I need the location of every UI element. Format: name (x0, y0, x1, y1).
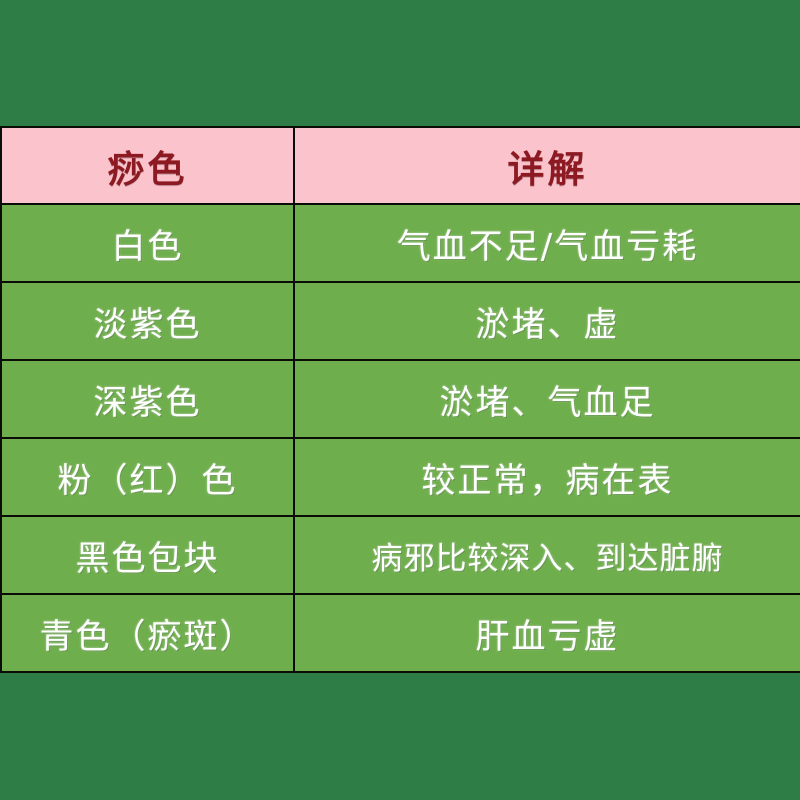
table-row: 白色 气血不足/气血亏耗 (1, 204, 800, 282)
cell-sha-color: 白色 (1, 204, 294, 282)
table-row: 粉（红）色 较正常，病在表 (1, 438, 800, 516)
table-body: 白色 气血不足/气血亏耗 淡紫色 淤堵、虚 深紫色 淤堵、气血足 粉（红）色 较… (1, 204, 800, 672)
cell-detail: 较正常，病在表 (294, 438, 800, 516)
cell-sha-color: 粉（红）色 (1, 438, 294, 516)
cell-sha-color: 黑色包块 (1, 516, 294, 594)
column-header-sha-color: 痧色 (1, 127, 294, 204)
cell-detail: 淤堵、气血足 (294, 360, 800, 438)
table-row: 淡紫色 淤堵、虚 (1, 282, 800, 360)
table-header-row: 痧色 详解 (1, 127, 800, 204)
column-header-detail: 详解 (294, 127, 800, 204)
cell-detail: 病邪比较深入、到达脏腑 (294, 516, 800, 594)
table-row: 深紫色 淤堵、气血足 (1, 360, 800, 438)
cell-detail: 肝血亏虚 (294, 594, 800, 672)
table-header: 痧色 详解 (1, 127, 800, 204)
table-row: 黑色包块 病邪比较深入、到达脏腑 (1, 516, 800, 594)
table-row: 青色（瘀斑） 肝血亏虚 (1, 594, 800, 672)
cell-detail: 淤堵、虚 (294, 282, 800, 360)
cell-sha-color: 青色（瘀斑） (1, 594, 294, 672)
screenshot-root: 痧色 详解 白色 气血不足/气血亏耗 淡紫色 淤堵、虚 深紫色 淤堵、气血足 粉… (0, 0, 800, 800)
sha-color-table: 痧色 详解 白色 气血不足/气血亏耗 淡紫色 淤堵、虚 深紫色 淤堵、气血足 粉… (0, 126, 800, 673)
cell-sha-color: 淡紫色 (1, 282, 294, 360)
cell-sha-color: 深紫色 (1, 360, 294, 438)
cell-detail: 气血不足/气血亏耗 (294, 204, 800, 282)
